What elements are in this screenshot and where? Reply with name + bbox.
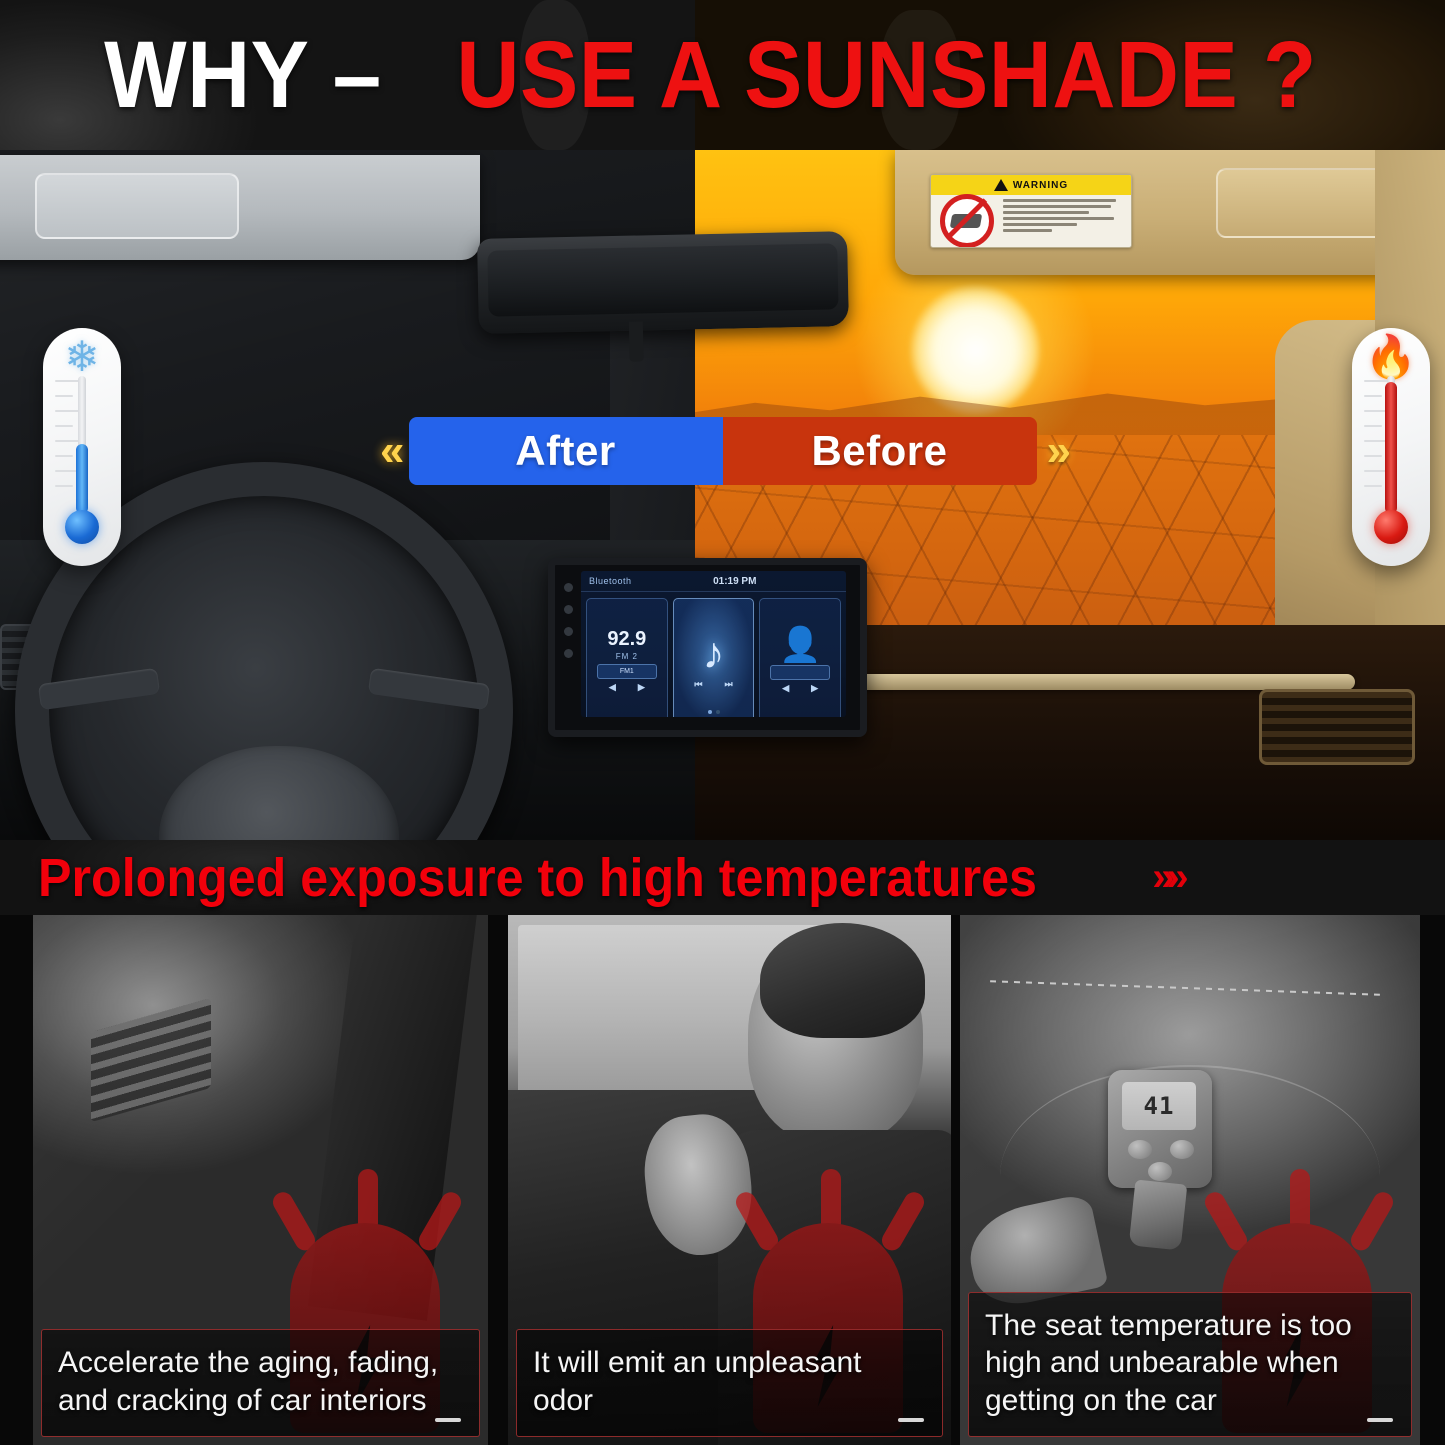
panel-odor: It will emit an unpleasant odor xyxy=(508,915,951,1445)
before-after-badge-row: « After Before » xyxy=(0,415,1445,487)
airbag-warning-label: WARNING xyxy=(930,174,1132,248)
gun-temperature-reading: 41 xyxy=(1144,1092,1175,1120)
prohibition-slash xyxy=(947,198,987,238)
radio-preset-chip[interactable]: FM1 xyxy=(597,664,657,679)
infotainment-page-dots[interactable] xyxy=(581,710,846,714)
mirror-glass xyxy=(487,243,838,316)
caption-dash-mark xyxy=(435,1418,461,1422)
gun-lcd-display: 41 xyxy=(1122,1082,1196,1130)
page-dot[interactable] xyxy=(716,710,720,714)
hot-thermometer: 🔥 xyxy=(1352,328,1430,566)
mid-banner-text-row: Prolonged exposure to high temperatures … xyxy=(38,840,1181,915)
caption-dash-mark xyxy=(898,1418,924,1422)
consequence-panels: Accelerate the aging, fading, and cracki… xyxy=(0,915,1445,1445)
flame-icon: 🔥 xyxy=(1352,336,1430,378)
caption-dash-mark xyxy=(1367,1418,1393,1422)
warning-label-text-lines xyxy=(1003,195,1131,247)
media-tile[interactable]: ♪ ⏮ ⏭ xyxy=(673,598,755,717)
radio-controls[interactable]: ◀ ▶ xyxy=(609,682,645,693)
thermometer-bulb-cold xyxy=(65,510,99,544)
before-badge: Before xyxy=(723,417,1037,485)
warning-label-word: WARNING xyxy=(1013,180,1068,191)
title-band: WHY – USE A SUNSHADE ? xyxy=(0,0,1445,150)
panel-aging: Accelerate the aging, fading, and cracki… xyxy=(33,915,488,1445)
side-button[interactable] xyxy=(564,627,573,636)
gun-body: 41 xyxy=(1108,1070,1212,1188)
gun-button[interactable] xyxy=(1128,1140,1152,1159)
sun-icon xyxy=(913,288,1038,413)
thermometer-fluid-cold xyxy=(76,444,88,514)
music-note-icon: ♪ xyxy=(703,632,725,676)
mid-banner-text: Prolonged exposure to high temperatures xyxy=(38,847,1037,909)
visor-clip xyxy=(46,181,56,229)
panel-caption: It will emit an unpleasant odor xyxy=(516,1329,943,1437)
media-prev-icon[interactable]: ⏮ xyxy=(694,679,702,690)
profile-next-icon[interactable]: ▶ xyxy=(811,683,818,694)
gun-handle xyxy=(1129,1179,1188,1250)
side-button[interactable] xyxy=(564,605,573,614)
mirror-stem xyxy=(629,321,644,361)
infotainment-source-label: Bluetooth xyxy=(589,576,632,586)
radio-band: FM 2 xyxy=(616,652,638,661)
radio-tile[interactable]: 92.9 FM 2 FM1 ◀ ▶ xyxy=(586,598,668,717)
panel-caption-text: It will emit an unpleasant odor xyxy=(533,1344,926,1420)
radio-next-icon[interactable]: ▶ xyxy=(638,682,645,693)
sun-visor-beige: WARNING xyxy=(895,150,1445,275)
hero-split-scene: WARNING xyxy=(0,150,1445,840)
cold-thermometer: ❄ xyxy=(43,328,121,566)
media-next-icon[interactable]: ⏭ xyxy=(725,679,733,690)
mid-banner-chevrons-icon: »» xyxy=(1152,855,1181,900)
sunshade-infographic-poster: WHY – USE A SUNSHADE ? xyxy=(0,0,1445,1445)
profile-chip[interactable] xyxy=(770,665,830,680)
side-button[interactable] xyxy=(564,583,573,592)
shield-ray xyxy=(415,1189,464,1254)
steering-wheel-hub xyxy=(159,746,399,840)
dash-vent-grille xyxy=(91,998,211,1122)
snowflake-icon: ❄ xyxy=(43,336,121,378)
profile-controls[interactable]: ◀ ▶ xyxy=(782,683,818,694)
panel-caption: The seat temperature is too high and unb… xyxy=(968,1292,1412,1437)
warning-label-header: WARNING xyxy=(931,175,1131,195)
infotainment-head-unit: Bluetooth 01:19 PM 92.9 FM 2 FM1 ◀ ▶ xyxy=(548,558,867,737)
warning-triangle-icon xyxy=(994,179,1008,191)
shield-ray xyxy=(878,1189,927,1254)
prohibition-circle xyxy=(940,194,994,248)
gun-button[interactable] xyxy=(1170,1140,1194,1159)
person-icon: 👤 xyxy=(779,628,821,662)
panel-caption-text: Accelerate the aging, fading, and cracki… xyxy=(58,1344,463,1420)
radio-frequency: 92.9 xyxy=(607,629,646,649)
air-vent-right xyxy=(1259,689,1415,765)
rearview-mirror xyxy=(477,231,849,334)
man-hair xyxy=(760,923,925,1038)
infotainment-side-buttons[interactable] xyxy=(558,573,578,723)
page-title: WHY – USE A SUNSHADE ? xyxy=(0,0,1445,150)
page-title-red: USE A SUNSHADE ? xyxy=(457,28,1317,123)
thermometer-fluid-hot xyxy=(1385,382,1397,514)
page-dot-active[interactable] xyxy=(708,710,712,714)
infotainment-clock: 01:19 PM xyxy=(713,576,756,587)
seat-stitching xyxy=(990,980,1380,996)
warning-label-body xyxy=(931,195,1131,247)
profile-tile[interactable]: 👤 ◀ ▶ xyxy=(759,598,841,717)
infotainment-screen[interactable]: Bluetooth 01:19 PM 92.9 FM 2 FM1 ◀ ▶ xyxy=(581,571,846,717)
profile-prev-icon[interactable]: ◀ xyxy=(782,683,789,694)
media-controls[interactable]: ⏮ ⏭ xyxy=(694,679,732,690)
chevron-left-icon: « xyxy=(370,429,408,473)
side-button[interactable] xyxy=(564,649,573,658)
mid-banner: Prolonged exposure to high temperatures … xyxy=(0,840,1445,915)
steering-spoke-left xyxy=(38,668,160,710)
infotainment-tiles: 92.9 FM 2 FM1 ◀ ▶ ♪ ⏮ ⏭ xyxy=(581,592,846,717)
gun-button[interactable] xyxy=(1148,1162,1172,1181)
panel-seat-temp: 41 The seat temperature is too high xyxy=(960,915,1420,1445)
shield-ray xyxy=(1347,1189,1396,1254)
thermometer-bulb-hot xyxy=(1374,510,1408,544)
steering-spoke-right xyxy=(368,668,490,710)
after-badge: After xyxy=(409,417,723,485)
panel-caption: Accelerate the aging, fading, and cracki… xyxy=(41,1329,480,1437)
radio-prev-icon[interactable]: ◀ xyxy=(609,682,616,693)
infotainment-status-bar: Bluetooth 01:19 PM xyxy=(581,571,846,592)
page-title-white: WHY – xyxy=(104,28,406,123)
no-rear-facing-child-seat-icon xyxy=(931,195,1003,247)
chevron-right-icon: » xyxy=(1037,429,1075,473)
panel-caption-text: The seat temperature is too high and unb… xyxy=(985,1307,1395,1420)
sun-visor-gray xyxy=(0,155,480,260)
